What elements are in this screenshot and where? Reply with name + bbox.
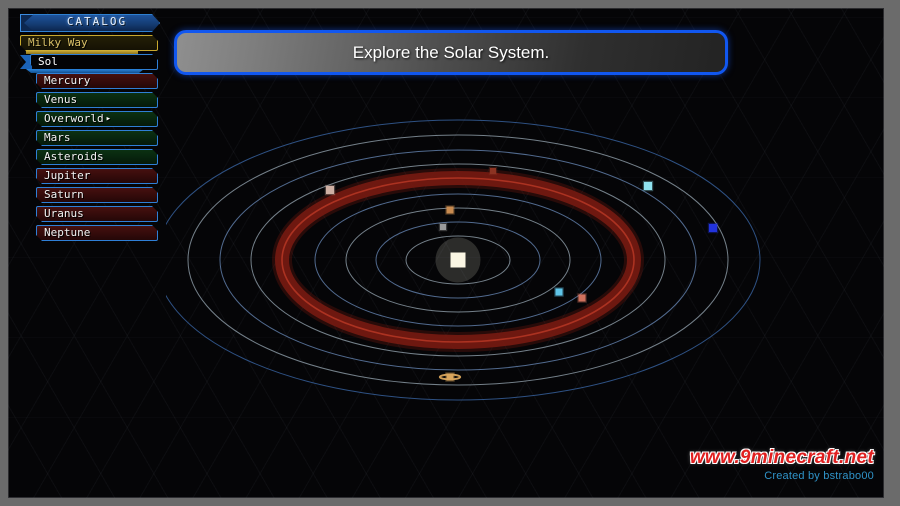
info-banner-text: Explore the Solar System. [353,43,550,63]
catalog-item-label: Mars [44,131,71,145]
catalog-item-uranus[interactable]: Uranus [18,206,166,223]
catalog-item-milky-way[interactable]: Milky Way [18,35,166,52]
catalog-item-label: Uranus [44,207,84,221]
catalog-title: CATALOG [42,15,152,28]
app-window: CATALOG Milky WaySolMercuryVenusOverworl… [0,0,900,506]
game-screen: CATALOG Milky WaySolMercuryVenusOverworl… [8,8,884,498]
catalog-item-expand-arrow-icon[interactable]: ▸ [106,112,111,126]
catalog-item-jupiter[interactable]: Jupiter [18,168,166,185]
catalog-item-saturn[interactable]: Saturn [18,187,166,204]
catalog-item-asteroids[interactable]: Asteroids [18,149,166,166]
catalog-item-label: Neptune [44,226,90,240]
catalog-item-label: Overworld▸ [44,112,111,126]
catalog-item-label: Venus [44,93,77,107]
celestial-body-mercury[interactable] [440,224,446,230]
catalog-item-label: Milky Way [28,36,88,50]
solar-system-map[interactable] [166,78,884,498]
catalog-panel: CATALOG Milky WaySolMercuryVenusOverworl… [18,14,166,244]
catalog-item-venus[interactable]: Venus [18,92,166,109]
solar-system-svg[interactable] [166,78,884,498]
celestial-body-overworld[interactable] [556,289,563,296]
catalog-item-mars[interactable]: Mars [18,130,166,147]
celestial-body-neptune[interactable] [709,224,717,232]
catalog-item-overworld[interactable]: Overworld▸ [18,111,166,128]
catalog-item-label: Asteroids [44,150,104,164]
celestial-body-mars[interactable] [579,295,586,302]
celestial-body-venus[interactable] [447,207,454,214]
catalog-list: Milky WaySolMercuryVenusOverworld▸MarsAs… [18,35,166,242]
catalog-item-neptune[interactable]: Neptune [18,225,166,242]
info-banner: Explore the Solar System. [174,30,728,75]
catalog-header: CATALOG [20,14,166,32]
catalog-item-label: Sol [38,55,58,69]
catalog-item-label: Mercury [44,74,90,88]
catalog-item-sol[interactable]: Sol [18,54,166,71]
celestial-body-uranus[interactable] [644,182,652,190]
catalog-item-label: Jupiter [44,169,90,183]
celestial-body-saturn[interactable] [447,374,454,381]
celestial-body-jupiter[interactable] [326,186,334,194]
catalog-item-label: Saturn [44,188,84,202]
celestial-body-sol[interactable] [451,253,466,268]
catalog-item-mercury[interactable]: Mercury [18,73,166,90]
celestial-body-asteroids[interactable] [490,168,496,174]
